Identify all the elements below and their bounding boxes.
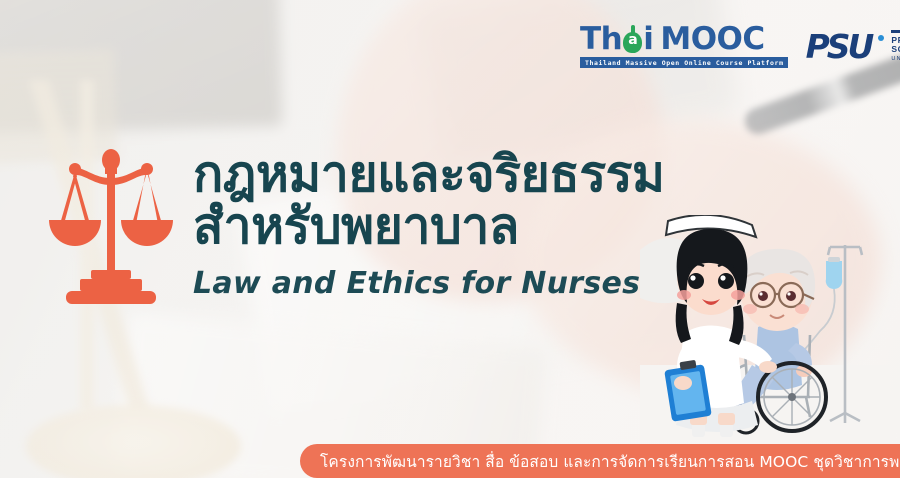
psu-line-songkla: SONGKLA	[891, 45, 900, 55]
logo-row: Th a i MOOC Thailand Massive Open Online…	[580, 24, 900, 68]
thai-mooc-word-part2: i	[643, 24, 653, 55]
title-thai-line-1: กฎหมายและจริยธรรม	[193, 148, 773, 200]
thai-mooc-tagline: Thailand Massive Open Online Course Plat…	[580, 57, 788, 68]
thai-mooc-logo: Th a i MOOC Thailand Massive Open Online…	[580, 24, 788, 68]
nurse-hand-left	[674, 376, 692, 390]
course-banner: Th a i MOOC Thailand Massive Open Online…	[0, 0, 900, 502]
thai-mooc-wordmark: Th a i MOOC	[580, 24, 788, 55]
thai-mooc-word-part3: MOOC	[660, 24, 764, 55]
psu-line-university: UNIVERSITY	[891, 56, 900, 62]
psu-monogram: PSU	[806, 30, 872, 63]
thai-mooc-word-part1: Th	[580, 24, 622, 55]
iv-fluid-bag	[826, 261, 843, 289]
scales-of-justice-icon	[36, 148, 186, 318]
nurse-hand-right	[759, 361, 777, 373]
nurse-and-elderly-patient-illustration	[640, 215, 890, 440]
thai-mooc-leaf-icon: a	[623, 26, 642, 53]
thai-mooc-leaf-letter: a	[628, 33, 637, 47]
ribbon-label: โครงการพัฒนารายวิชา สื่อ ข้อสอบ และการจั…	[300, 449, 900, 474]
psu-logo: PSU PRINCE of SONGKLA UNIVERSITY	[806, 30, 900, 63]
psu-line-prince-text: PRINCE	[891, 35, 900, 45]
wheelchair-wheel-large	[758, 363, 826, 431]
psu-lockup-text: PRINCE of SONGKLA UNIVERSITY	[891, 30, 900, 63]
psu-dot-icon	[878, 35, 884, 41]
psu-divider-bar	[891, 30, 900, 33]
bottom-ribbon: โครงการพัฒนารายวิชา สื่อ ข้อสอบ และการจั…	[300, 444, 900, 478]
bottom-white-strip	[0, 478, 900, 502]
